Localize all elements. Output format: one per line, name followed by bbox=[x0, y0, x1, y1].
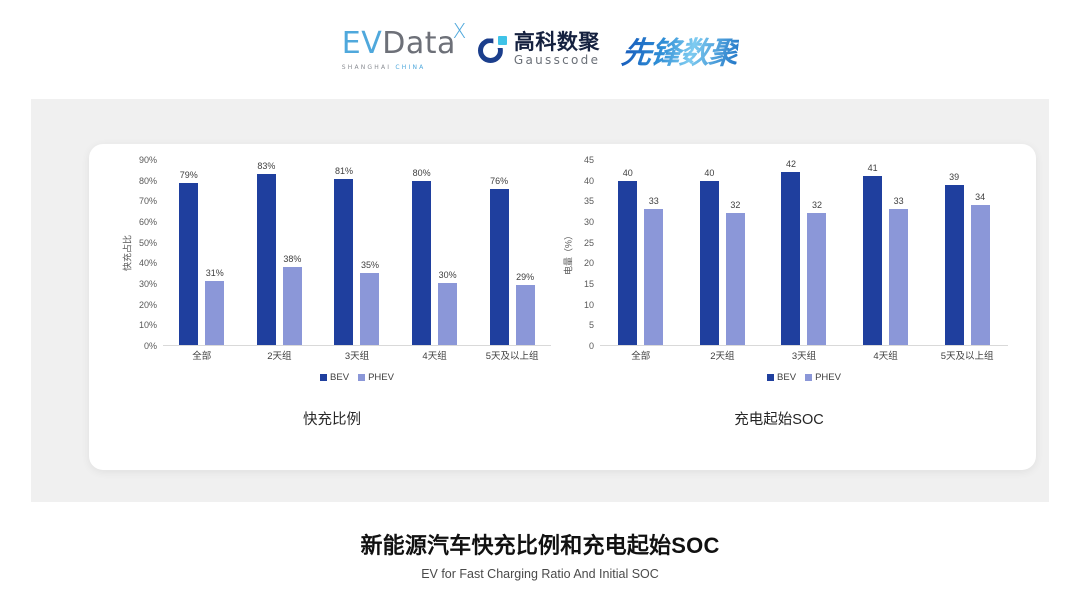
bar-groups: 40334032423241333934 bbox=[600, 160, 1008, 345]
plot-area: 电量（%） 051015202530354045 403340324232413… bbox=[544, 160, 1014, 346]
bar-value-label: 81% bbox=[335, 166, 353, 176]
bar-value-label: 38% bbox=[283, 254, 301, 264]
y-axis-tick: 5 bbox=[589, 320, 594, 330]
legend-item-bev[interactable]: BEV bbox=[320, 372, 349, 383]
bar-phev[interactable]: 38% bbox=[283, 267, 302, 345]
bar-fill bbox=[863, 176, 882, 345]
bar-value-label: 32 bbox=[730, 200, 740, 210]
bar-group: 4133 bbox=[845, 160, 927, 345]
legend-swatch-icon bbox=[358, 374, 365, 381]
page-subtitle: EV for Fast Charging Ratio And Initial S… bbox=[0, 567, 1080, 581]
bar-bev[interactable]: 80% bbox=[412, 181, 431, 345]
bar-group: 76%29% bbox=[473, 160, 551, 345]
bar-value-label: 33 bbox=[649, 196, 659, 206]
bar-value-label: 33 bbox=[894, 196, 904, 206]
evdata-wordmark: EVData X bbox=[342, 29, 456, 59]
y-axis-tick: 10% bbox=[139, 320, 157, 330]
x-axis-label: 5天及以上组 bbox=[473, 348, 551, 362]
bar-bev[interactable]: 79% bbox=[179, 183, 198, 345]
y-axis-tick: 30 bbox=[584, 217, 594, 227]
y-axis-tick: 15 bbox=[584, 279, 594, 289]
bar-value-label: 35% bbox=[361, 260, 379, 270]
bar-fill bbox=[490, 189, 509, 345]
bar-fill bbox=[205, 281, 224, 345]
bar-bev[interactable]: 76% bbox=[490, 189, 509, 345]
page-title: 新能源汽车快充比例和充电起始SOC bbox=[0, 528, 1080, 560]
footer: 新能源汽车快充比例和充电起始SOC EV for Fast Charging R… bbox=[0, 528, 1080, 581]
bar-phev[interactable]: 32 bbox=[807, 213, 826, 345]
bar-bev[interactable]: 39 bbox=[945, 185, 964, 345]
bar-fill bbox=[700, 181, 719, 345]
y-axis-tick: 0% bbox=[144, 341, 157, 351]
bar-value-label: 42 bbox=[786, 159, 796, 169]
y-axis-tick: 0 bbox=[589, 341, 594, 351]
chart-initial-soc: 电量（%） 051015202530354045 403340324232413… bbox=[544, 160, 1014, 460]
bar-value-label: 80% bbox=[413, 168, 431, 178]
chart-fast-charging-ratio: 快充占比 0%10%20%30%40%50%60%70%80%90% 79%31… bbox=[107, 160, 557, 460]
bar-group: 79%31% bbox=[163, 160, 241, 345]
y-axis-tick: 40 bbox=[584, 176, 594, 186]
slide-root: EVData X SHANGHAI CHINA 高科数聚 Gausscode 先… bbox=[0, 0, 1080, 608]
bar-group: 80%30% bbox=[396, 160, 474, 345]
bar-bev[interactable]: 40 bbox=[618, 181, 637, 345]
x-axis-label: 全部 bbox=[600, 348, 682, 362]
legend-item-bev[interactable]: BEV bbox=[767, 372, 796, 383]
bar-phev[interactable]: 30% bbox=[438, 283, 457, 345]
bar-phev[interactable]: 29% bbox=[516, 285, 535, 345]
x-axis-label: 3天组 bbox=[763, 348, 845, 362]
x-axis-label: 5天及以上组 bbox=[926, 348, 1008, 362]
y-axis-tick: 25 bbox=[584, 238, 594, 248]
plot: 40334032423241333934 bbox=[600, 160, 1008, 346]
x-axis-label: 2天组 bbox=[682, 348, 764, 362]
bar-phev[interactable]: 31% bbox=[205, 281, 224, 345]
legend-swatch-icon bbox=[767, 374, 774, 381]
bar-fill bbox=[360, 273, 379, 345]
bar-value-label: 39 bbox=[949, 172, 959, 182]
bar-fill bbox=[179, 183, 198, 345]
gausscode-name-cn: 高科数聚 bbox=[514, 32, 600, 54]
legend-label: PHEV bbox=[815, 372, 841, 383]
bar-value-label: 40 bbox=[704, 168, 714, 178]
evdata-logo: EVData X SHANGHAI CHINA bbox=[342, 29, 456, 71]
chart-title: 快充比例 bbox=[107, 408, 557, 429]
chart-legend: BEVPHEV bbox=[163, 372, 551, 383]
plot: 79%31%83%38%81%35%80%30%76%29% bbox=[163, 160, 551, 346]
bar-value-label: 76% bbox=[490, 176, 508, 186]
gausscode-square-icon bbox=[498, 36, 507, 45]
legend-item-phev[interactable]: PHEV bbox=[805, 372, 841, 383]
bar-value-label: 31% bbox=[206, 268, 224, 278]
evdata-letter-v: V bbox=[361, 26, 382, 61]
y-axis-ticks: 0%10%20%30%40%50%60%70%80%90% bbox=[125, 160, 161, 346]
bar-fill bbox=[257, 174, 276, 345]
legend-swatch-icon bbox=[320, 374, 327, 381]
bar-fill bbox=[644, 209, 663, 345]
legend-item-phev[interactable]: PHEV bbox=[358, 372, 394, 383]
bar-value-label: 79% bbox=[180, 170, 198, 180]
y-axis-tick: 20% bbox=[139, 300, 157, 310]
bar-fill bbox=[438, 283, 457, 345]
y-axis-tick: 70% bbox=[139, 196, 157, 206]
y-axis-tick: 45 bbox=[584, 155, 594, 165]
bar-fill bbox=[781, 172, 800, 345]
legend-swatch-icon bbox=[805, 374, 812, 381]
bar-fill bbox=[618, 181, 637, 345]
evdata-tagline: SHANGHAI CHINA bbox=[342, 64, 426, 71]
x-axis-labels: 全部2天组3天组4天组5天及以上组 bbox=[163, 348, 551, 362]
bar-value-label: 41 bbox=[868, 163, 878, 173]
evdata-letter-e: E bbox=[342, 26, 361, 61]
bar-fill bbox=[945, 185, 964, 345]
bar-value-label: 29% bbox=[516, 272, 534, 282]
y-axis-tick: 40% bbox=[139, 258, 157, 268]
bar-phev[interactable]: 32 bbox=[726, 213, 745, 345]
plot-area: 快充占比 0%10%20%30%40%50%60%70%80%90% 79%31… bbox=[107, 160, 557, 346]
legend-label: BEV bbox=[330, 372, 349, 383]
evdata-tagline-country: CHINA bbox=[395, 64, 425, 71]
bar-value-label: 34 bbox=[975, 192, 985, 202]
bar-bev[interactable]: 42 bbox=[781, 172, 800, 345]
x-axis-label: 2天组 bbox=[241, 348, 319, 362]
bar-value-label: 40 bbox=[623, 168, 633, 178]
bar-fill bbox=[971, 205, 990, 345]
y-axis-ticks: 051015202530354045 bbox=[562, 160, 598, 346]
bar-value-label: 30% bbox=[439, 270, 457, 280]
bar-fill bbox=[334, 179, 353, 346]
bar-bev[interactable]: 83% bbox=[257, 174, 276, 345]
y-axis-tick: 80% bbox=[139, 176, 157, 186]
bar-bev[interactable]: 40 bbox=[700, 181, 719, 345]
y-axis-tick: 20 bbox=[584, 258, 594, 268]
x-axis-label: 全部 bbox=[163, 348, 241, 362]
gausscode-wordmark: 高科数聚 Gausscode bbox=[514, 32, 600, 67]
y-axis-tick: 50% bbox=[139, 238, 157, 248]
chart-legend: BEVPHEV bbox=[600, 372, 1008, 383]
gausscode-mark-icon bbox=[478, 35, 507, 64]
bar-group: 4032 bbox=[682, 160, 764, 345]
x-axis-labels: 全部2天组3天组4天组5天及以上组 bbox=[600, 348, 1008, 362]
y-axis-tick: 35 bbox=[584, 196, 594, 206]
bar-fill bbox=[516, 285, 535, 345]
bar-group: 4033 bbox=[600, 160, 682, 345]
bar-phev[interactable]: 34 bbox=[971, 205, 990, 345]
charts-card: 快充占比 0%10%20%30%40%50%60%70%80%90% 79%31… bbox=[89, 144, 1036, 470]
x-axis-label: 4天组 bbox=[845, 348, 927, 362]
evdata-x-icon: X bbox=[453, 21, 467, 41]
x-axis-label: 3天组 bbox=[318, 348, 396, 362]
gausscode-logo: 高科数聚 Gausscode bbox=[478, 32, 600, 67]
legend-label: PHEV bbox=[368, 372, 394, 383]
bar-group: 3934 bbox=[926, 160, 1008, 345]
xianfeng-wordmark: 先锋数聚 bbox=[620, 28, 741, 72]
bar-phev[interactable]: 33 bbox=[889, 209, 908, 345]
x-axis-label: 4天组 bbox=[396, 348, 474, 362]
bar-groups: 79%31%83%38%81%35%80%30%76%29% bbox=[163, 160, 551, 345]
bar-fill bbox=[283, 267, 302, 345]
y-axis-tick: 10 bbox=[584, 300, 594, 310]
bar-group: 81%35% bbox=[318, 160, 396, 345]
evdata-tagline-city: SHANGHAI bbox=[342, 64, 392, 71]
y-axis-tick: 60% bbox=[139, 217, 157, 227]
bar-phev[interactable]: 33 bbox=[644, 209, 663, 345]
bar-group: 83%38% bbox=[241, 160, 319, 345]
bar-value-label: 83% bbox=[257, 161, 275, 171]
y-axis-tick: 30% bbox=[139, 279, 157, 289]
bar-bev[interactable]: 41 bbox=[863, 176, 882, 345]
legend-label: BEV bbox=[777, 372, 796, 383]
bar-fill bbox=[726, 213, 745, 345]
bar-fill bbox=[889, 209, 908, 345]
bar-value-label: 32 bbox=[812, 200, 822, 210]
bar-fill bbox=[807, 213, 826, 345]
y-axis-tick: 90% bbox=[139, 155, 157, 165]
xianfeng-logo: 先锋数聚 bbox=[622, 28, 738, 72]
bar-group: 4232 bbox=[763, 160, 845, 345]
bar-fill bbox=[412, 181, 431, 345]
bar-phev[interactable]: 35% bbox=[360, 273, 379, 345]
chart-title: 充电起始SOC bbox=[544, 408, 1014, 429]
gausscode-name-en: Gausscode bbox=[514, 54, 600, 67]
logo-bar: EVData X SHANGHAI CHINA 高科数聚 Gausscode 先… bbox=[0, 22, 1080, 78]
evdata-letters-data: Data bbox=[382, 26, 456, 61]
bar-bev[interactable]: 81% bbox=[334, 179, 353, 346]
